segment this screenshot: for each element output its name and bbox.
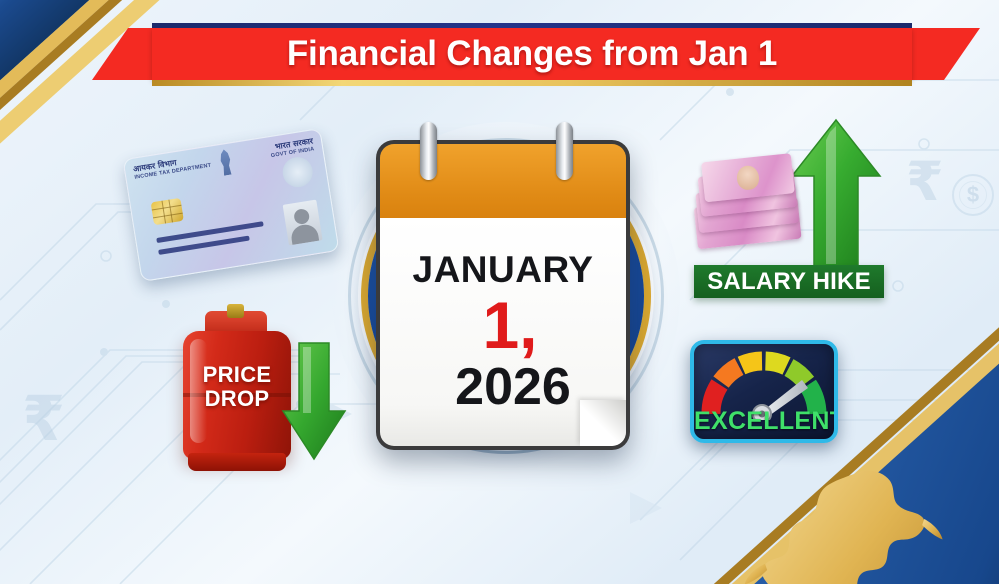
smart-chip-icon [151,198,184,225]
pan-photo-avatar [283,200,323,246]
calendar-day: 1, [482,294,537,357]
rupee-notes-stack-icon [689,153,805,262]
dollar-coin-watermark-icon: $ [952,174,994,216]
note-portrait [736,165,760,191]
title-banner: Financial Changes from Jan 1 [0,24,999,92]
calendar-ring-left-icon [420,122,437,180]
pan-card-issuer: आयकर विभाग INCOME TAX DEPARTMENT [133,153,212,181]
cylinder-base [188,453,286,471]
salary-hike-banner: SALARY HIKE [694,265,884,298]
salary-hike-label: SALARY HIKE [707,270,871,294]
infographic-canvas: ₹ ₹ $ [0,0,999,584]
calendar-header [380,144,626,218]
calendar-body: JANUARY 1, 2026 [380,218,626,446]
page-title: Financial Changes from Jan 1 [287,34,777,74]
price-drop-line-1: PRICE [185,363,289,387]
price-drop-label: PRICE DROP [185,363,289,411]
hologram-icon [281,155,315,189]
lpg-price-drop-group: PRICE DROP [175,305,350,475]
arrow-down-icon [279,341,349,463]
calendar-ring-right-icon [556,122,573,180]
calendar-card: JANUARY 1, 2026 [376,140,630,450]
cylinder-valve-icon [227,304,244,318]
title-banner-tail-right [900,28,980,80]
rupee-watermark-left: ₹ [22,388,65,450]
credit-score-gauge-panel: EXCELLENT [690,340,838,443]
calendar-month: JANUARY [413,251,594,288]
pan-card-government: भारत सरकार GOVT OF INDIA [269,136,315,159]
price-drop-line-2: DROP [185,387,289,411]
calendar-year: 2026 [455,361,571,413]
rupee-watermark-right: ₹ [906,155,944,209]
title-bar: Financial Changes from Jan 1 [152,28,912,80]
credit-score-label: EXCELLENT [694,409,834,434]
